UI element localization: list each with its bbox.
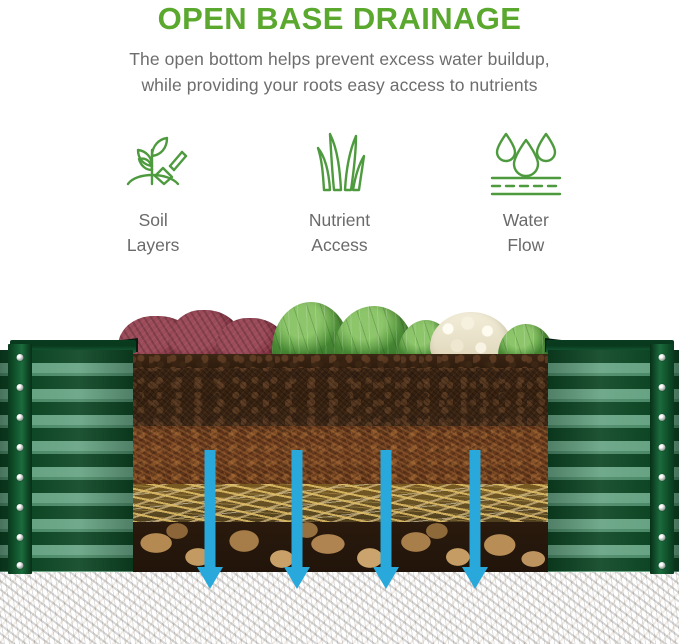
arrow-shaft: [205, 450, 216, 568]
screw-icon: [17, 534, 24, 541]
screw-icon: [659, 354, 666, 361]
screw-icon: [659, 474, 666, 481]
feature-water-flow-label: Water Flow: [433, 208, 619, 258]
raised-garden-bed-cutaway: [0, 282, 679, 644]
screw-icon: [17, 504, 24, 511]
water-flow-arrow: [197, 450, 223, 568]
screw-icon: [659, 444, 666, 451]
page-title: OPEN BASE DRAINAGE: [0, 2, 679, 36]
native-ground-soil: [0, 572, 679, 644]
feature-label-line-1: Water: [433, 208, 619, 233]
feature-label-line-2: Access: [246, 233, 432, 258]
water-droplets-permeable-layers-icon: [433, 124, 619, 202]
subtitle-line-2: while providing your roots easy access t…: [0, 72, 679, 98]
screw-icon: [659, 534, 666, 541]
screw-icon: [17, 384, 24, 391]
screw-icon: [659, 562, 666, 569]
arrow-head: [197, 567, 223, 589]
screw-icon: [17, 414, 24, 421]
infographic-page: OPEN BASE DRAINAGE The open bottom helps…: [0, 0, 679, 644]
screw-icon: [659, 414, 666, 421]
feature-label-line-1: Nutrient: [246, 208, 432, 233]
feature-soil-layers: Soil Layers: [60, 124, 246, 258]
arrow-head: [284, 567, 310, 589]
soil-layer-topsoil: [131, 362, 550, 426]
page-subtitle: The open bottom helps prevent excess wat…: [0, 46, 679, 98]
feature-label-line-2: Layers: [60, 233, 246, 258]
water-flow-arrow: [373, 450, 399, 568]
arrow-head: [373, 567, 399, 589]
header-section: OPEN BASE DRAINAGE The open bottom helps…: [0, 0, 679, 98]
feature-label-line-2: Flow: [433, 233, 619, 258]
screw-icon: [17, 444, 24, 451]
feature-label-line-1: Soil: [60, 208, 246, 233]
bed-corner-post-left: [8, 344, 32, 574]
screw-icon: [659, 504, 666, 511]
plant-soil-base: [131, 354, 550, 368]
grass-blades-icon: [246, 124, 432, 202]
subtitle-line-1: The open bottom helps prevent excess wat…: [0, 46, 679, 72]
feature-soil-layers-label: Soil Layers: [60, 208, 246, 258]
bed-corner-post-right: [650, 344, 674, 574]
arrow-head: [462, 567, 488, 589]
water-flow-arrow: [462, 450, 488, 568]
water-flow-arrow: [284, 450, 310, 568]
screw-icon: [659, 384, 666, 391]
arrow-shaft: [292, 450, 303, 568]
arrow-shaft: [381, 450, 392, 568]
feature-nutrient-access-label: Nutrient Access: [246, 208, 432, 258]
feature-nutrient-access: Nutrient Access: [246, 124, 432, 258]
plant-sprout-trowel-icon: [60, 124, 246, 202]
feature-water-flow: Water Flow: [433, 124, 619, 258]
arrow-shaft: [470, 450, 481, 568]
screw-icon: [17, 562, 24, 569]
feature-list: Soil Layers Nutrient Access: [0, 124, 679, 258]
screw-icon: [17, 474, 24, 481]
screw-icon: [17, 354, 24, 361]
